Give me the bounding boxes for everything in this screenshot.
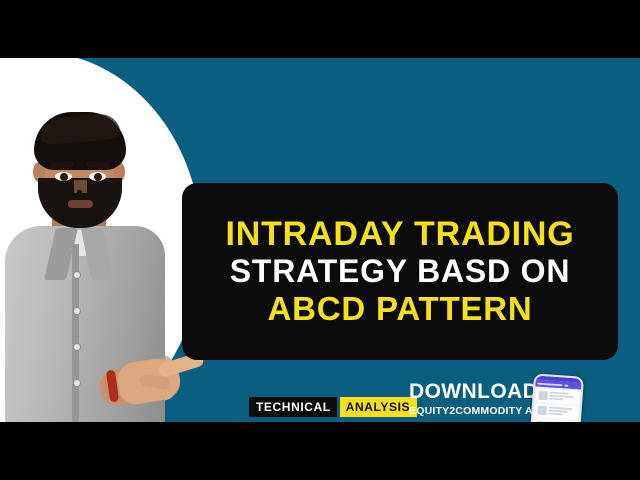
brand-wordmark: TECHNICAL ANALYSIS <box>249 397 417 417</box>
letterbox-top <box>0 0 640 58</box>
phone-list-item <box>536 389 579 405</box>
title-line-3: ABCD PATTERN <box>267 292 532 327</box>
phone-item-lines <box>548 406 576 417</box>
presenter-mouth <box>68 200 93 208</box>
presenter-soul-patch <box>77 190 82 200</box>
phone-screen <box>530 375 582 422</box>
phone-list-item <box>535 404 578 420</box>
phone-mockup <box>528 373 584 422</box>
presenter-button <box>74 380 80 386</box>
phone-item-lines <box>549 392 577 403</box>
title-card: INTRADAY TRADING STRATEGY BASD ON ABCD P… <box>182 183 618 360</box>
brand-word-analysis: ANALYSIS <box>340 397 417 417</box>
presenter-pupil-right <box>94 173 102 181</box>
video-frame: INTRADAY TRADING STRATEGY BASD ON ABCD P… <box>0 0 640 480</box>
presenter-placket <box>72 244 79 422</box>
presenter-button <box>74 308 80 314</box>
phone-item-thumb <box>538 391 548 401</box>
presenter-button <box>74 344 80 350</box>
brand-word-technical: TECHNICAL <box>249 397 337 417</box>
phone-item-line <box>548 412 562 414</box>
presenter-button <box>74 272 80 278</box>
thumbnail-stage: INTRADAY TRADING STRATEGY BASD ON ABCD P… <box>0 58 640 422</box>
title-line-2: STRATEGY BASD ON <box>230 255 571 289</box>
letterbox-bottom <box>0 422 640 480</box>
brand-logo: TECHNICAL ANALYSIS WWW.EQUITY2COMMODITY.… <box>249 397 417 422</box>
title-line-1: INTRADAY TRADING <box>225 216 574 252</box>
phone-item-line <box>549 397 563 399</box>
phone-app-bar-title <box>537 382 562 386</box>
presenter-pupil-left <box>60 173 68 181</box>
phone-content-list <box>530 386 581 422</box>
phone-app-bar-action <box>565 384 568 386</box>
phone-item-thumb <box>537 406 547 416</box>
